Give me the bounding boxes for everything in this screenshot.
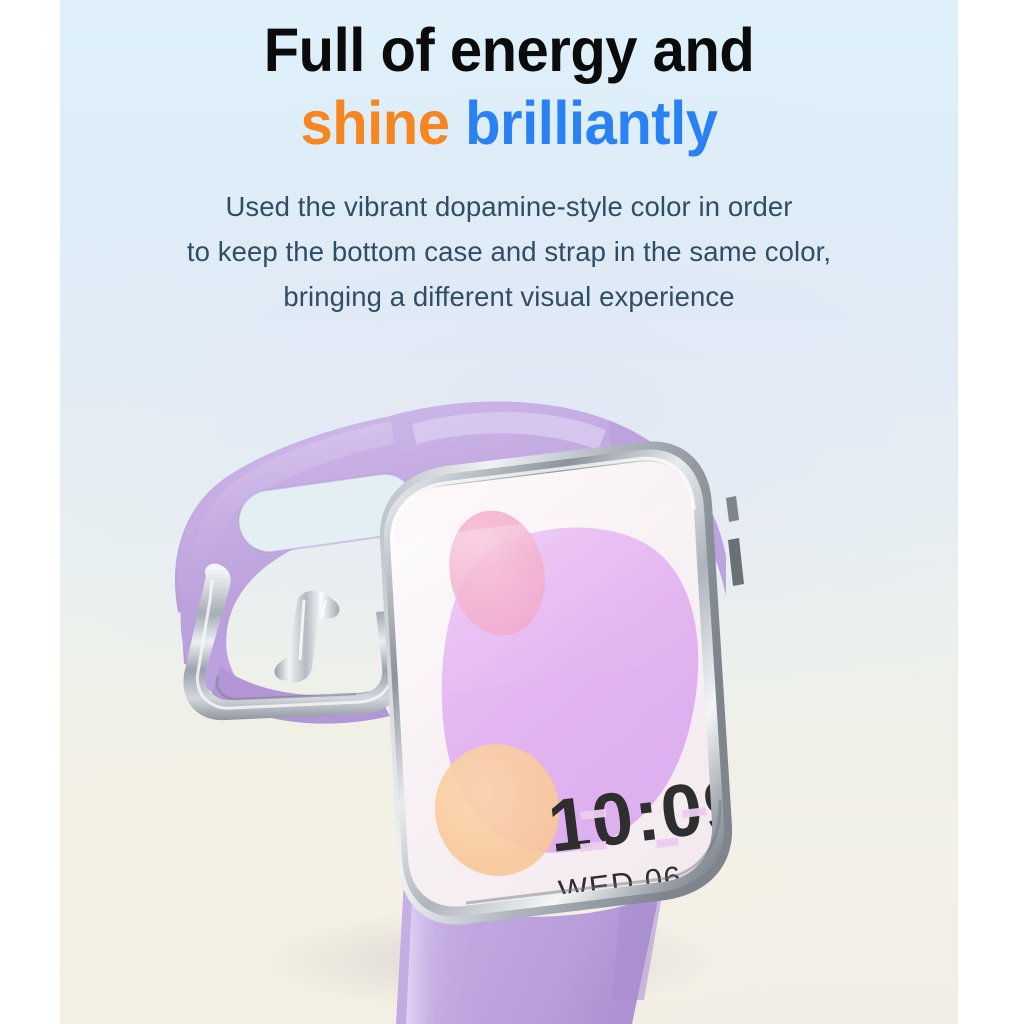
headline-word-brilliantly: brilliantly [465, 89, 717, 157]
subtext-line-1: Used the vibrant dopamine-style color in… [60, 184, 958, 229]
watch-case: 10:09 WED 06 [380, 441, 752, 924]
subtext-line-2: to keep the bottom case and strap in the… [60, 229, 958, 274]
text-block: Full of energy and shine brilliantly Use… [60, 0, 958, 319]
product-marketing-image: 10:09 WED 06 [0, 0, 1024, 1024]
subtext-line-3: bringing a different visual experience [60, 274, 958, 319]
watch-crown [726, 496, 739, 522]
watch-side-button [728, 538, 744, 586]
headline-line-1: Full of energy and [82, 0, 935, 88]
subtext-paragraph: Used the vibrant dopamine-style color in… [60, 158, 958, 319]
headline-line-2: shine brilliantly [82, 88, 935, 158]
headline-word-shine: shine [300, 89, 449, 157]
